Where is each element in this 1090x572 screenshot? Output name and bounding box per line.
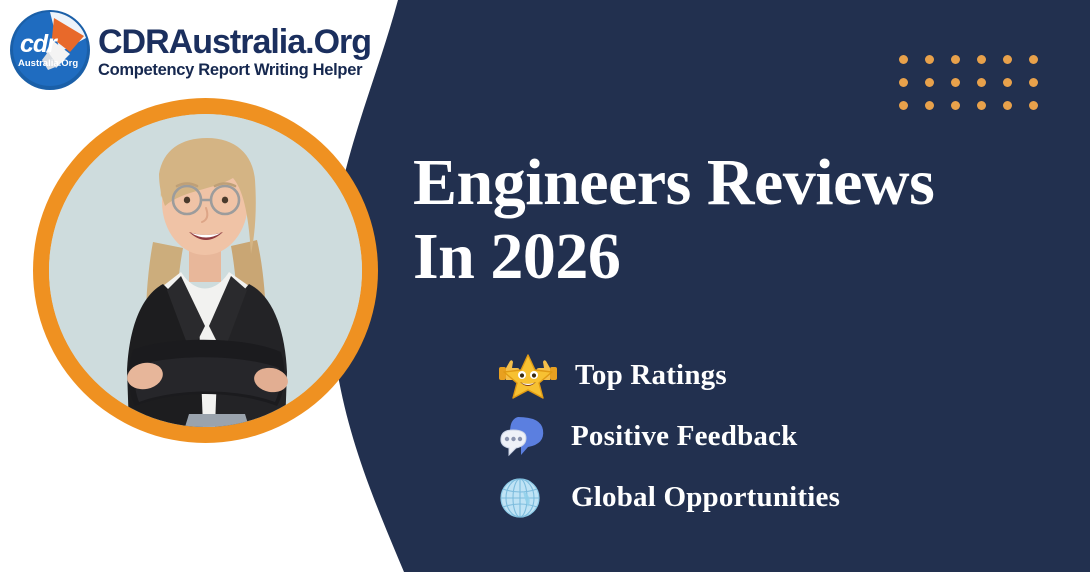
decor-dot	[1003, 55, 1012, 64]
decor-dot	[951, 101, 960, 110]
portrait-circle-frame	[33, 98, 378, 443]
decor-dot	[977, 55, 986, 64]
feature-label: Positive Feedback	[571, 420, 798, 453]
decor-dot	[899, 55, 908, 64]
brand-tagline: Competency Report Writing Helper	[98, 62, 371, 79]
decor-dot	[977, 78, 986, 87]
decor-dot	[1003, 78, 1012, 87]
headline-line-1: Engineers Reviews	[413, 146, 1053, 220]
list-item: Positive Feedback	[497, 413, 840, 460]
cdr-australia-logo-icon: cdr Australia.Org	[8, 8, 92, 92]
star-thumbs-up-icon	[497, 353, 559, 399]
list-item: Top Ratings	[497, 352, 840, 399]
brand-title: CDRAustralia.Org	[98, 25, 371, 59]
decor-dot	[925, 101, 934, 110]
headline-line-2: In 2026	[413, 220, 1053, 294]
feature-label: Global Opportunities	[571, 481, 840, 514]
decor-dot	[1029, 55, 1038, 64]
svg-text:cdr: cdr	[20, 30, 58, 58]
brand-logo-text: CDRAustralia.Org Competency Report Writi…	[98, 25, 371, 79]
list-item: Global Opportunities	[497, 474, 840, 521]
brand-logo[interactable]: cdr Australia.Org CDRAustralia.Org Compe…	[8, 8, 371, 92]
promo-banner: cdr Australia.Org CDRAustralia.Org Compe…	[0, 0, 1090, 572]
portrait-photo	[49, 114, 362, 427]
decor-dot	[951, 78, 960, 87]
feature-label: Top Ratings	[575, 359, 727, 392]
decor-dot	[1003, 101, 1012, 110]
feature-list: Top Ratings Positive Feedback	[497, 352, 840, 521]
decor-dot	[977, 101, 986, 110]
decor-dot	[899, 78, 908, 87]
decor-dot	[951, 55, 960, 64]
decor-dot	[1029, 101, 1038, 110]
decor-dot	[1029, 78, 1038, 87]
page-title: Engineers Reviews In 2026	[413, 146, 1053, 294]
decor-dot	[899, 101, 908, 110]
decor-dot	[925, 55, 934, 64]
decor-dot	[925, 78, 934, 87]
svg-text:Australia.Org: Australia.Org	[18, 58, 78, 69]
globe-icon	[497, 475, 555, 521]
dot-grid-decoration	[899, 55, 1055, 124]
speech-bubbles-icon	[497, 414, 555, 460]
